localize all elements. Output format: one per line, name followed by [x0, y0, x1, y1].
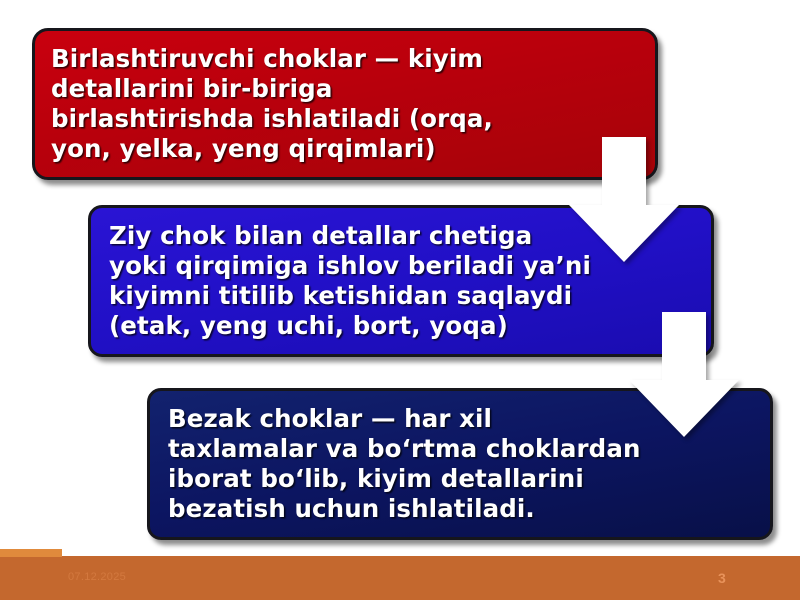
footer-page-number: 3 [718, 570, 726, 586]
flow-box-birlashtiruvchi-choklar[interactable]: Birlashtiruvchi choklar — kiyim detallar… [32, 28, 658, 180]
down-arrow-icon [569, 137, 679, 262]
slide-canvas: Birlashtiruvchi choklar — kiyim detallar… [0, 0, 800, 600]
flow-box-text: Birlashtiruvchi choklar — kiyim detallar… [35, 44, 493, 164]
footer-accent-tab [0, 549, 62, 557]
down-arrow-icon [629, 312, 739, 437]
footer-date: 07.12.2025 [68, 571, 126, 583]
flow-box-text: Bezak choklar — har xil taxlamalar va bo… [150, 404, 641, 524]
flow-box-text: Ziy chok bilan detallar chetiga yoki qir… [91, 221, 591, 341]
